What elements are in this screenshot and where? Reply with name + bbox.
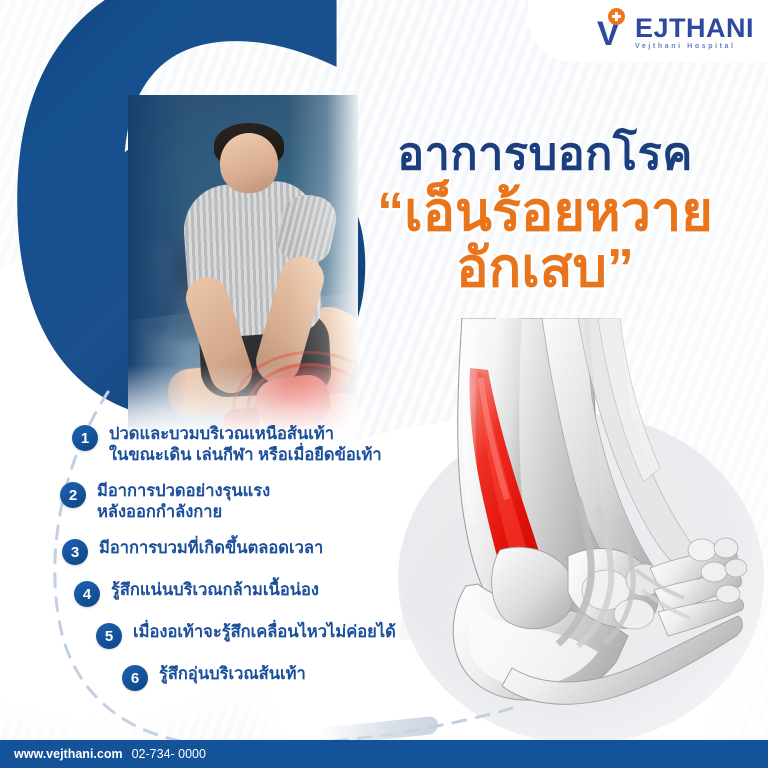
headline-disease-suffix: อักเสบ <box>456 238 607 298</box>
cross-icon <box>612 12 621 21</box>
list-item: 5 เมื่องอเท้าจะรู้สึกเคลื่อนไหวไม่ค่อยได… <box>96 622 470 649</box>
list-item: 2 มีอาการปวดอย่างรุนแรง หลังออกกำลังกาย <box>60 481 470 523</box>
headline-line-2: “เอ็นร้อยหวาย <box>330 182 760 242</box>
logo-panel: V EJTHANI Vejthani Hospital <box>528 0 768 62</box>
quote-open: “ <box>377 182 404 242</box>
footer-bar: www.vejthani.com 02-734- 0000 <box>0 740 768 768</box>
list-item: 3 มีอาการบวมที่เกิดขึ้นตลอดเวลา <box>62 538 470 565</box>
symptom-text-6: รู้สึกอุ่นบริเวณส้นเท้า <box>159 664 306 685</box>
list-item: 4 รู้สึกแน่นบริเวณกล้ามเนื้อน่อง <box>74 580 470 607</box>
symptom-text-3: มีอาการบวมที่เกิดขึ้นตลอดเวลา <box>99 538 323 559</box>
footer-phone[interactable]: 02-734- 0000 <box>132 747 206 761</box>
list-item: 6 รู้สึกอุ่นบริเวณส้นเท้า <box>122 664 470 691</box>
logo-sub-text: Vejthani Hospital <box>635 42 754 52</box>
symptom-text-1: ปวดและบวมบริเวณเหนือส้นเท้า ในขณะเดิน เล… <box>109 424 382 466</box>
medical-cross-circle-icon <box>608 8 625 25</box>
footer-website[interactable]: www.vejthani.com <box>14 747 123 761</box>
symptom-badge-4: 4 <box>74 581 100 607</box>
headline-line-1: อาการบอกโรค <box>330 128 760 180</box>
symptom-badge-5: 5 <box>96 623 122 649</box>
symptom-badge-3: 3 <box>62 539 88 565</box>
symptom-text-2: มีอาการปวดอย่างรุนแรง หลังออกกำลังกาย <box>97 481 270 523</box>
headline-disease-name: เอ็นร้อยหวาย <box>404 182 713 242</box>
symptom-text-5: เมื่องอเท้าจะรู้สึกเคลื่อนไหวไม่ค่อยได้ <box>133 622 396 643</box>
symptom-badge-2: 2 <box>60 482 86 508</box>
logo-wordmark: EJTHANI Vejthani Hospital <box>635 15 754 52</box>
vejthani-logo[interactable]: V EJTHANI Vejthani Hospital <box>595 9 754 52</box>
headline-line-3: อักเสบ” <box>330 238 760 298</box>
symptom-badge-6: 6 <box>122 665 148 691</box>
list-item: 1 ปวดและบวมบริเวณเหนือส้นเท้า ในขณะเดิน … <box>72 424 470 466</box>
photo-person-head <box>220 133 278 193</box>
symptom-text-4: รู้สึกแน่นบริเวณกล้ามเนื้อน่อง <box>111 580 319 601</box>
quote-close: ” <box>607 238 634 298</box>
infographic-poster: 6 <box>0 0 768 768</box>
logo-main-text: EJTHANI <box>635 15 754 41</box>
logo-mark: V <box>595 9 637 49</box>
headline-block: อาการบอกโรค “เอ็นร้อยหวาย อักเสบ” <box>330 128 760 298</box>
symptom-list: 1 ปวดและบวมบริเวณเหนือส้นเท้า ในขณะเดิน … <box>0 424 470 706</box>
symptom-badge-1: 1 <box>72 425 98 451</box>
